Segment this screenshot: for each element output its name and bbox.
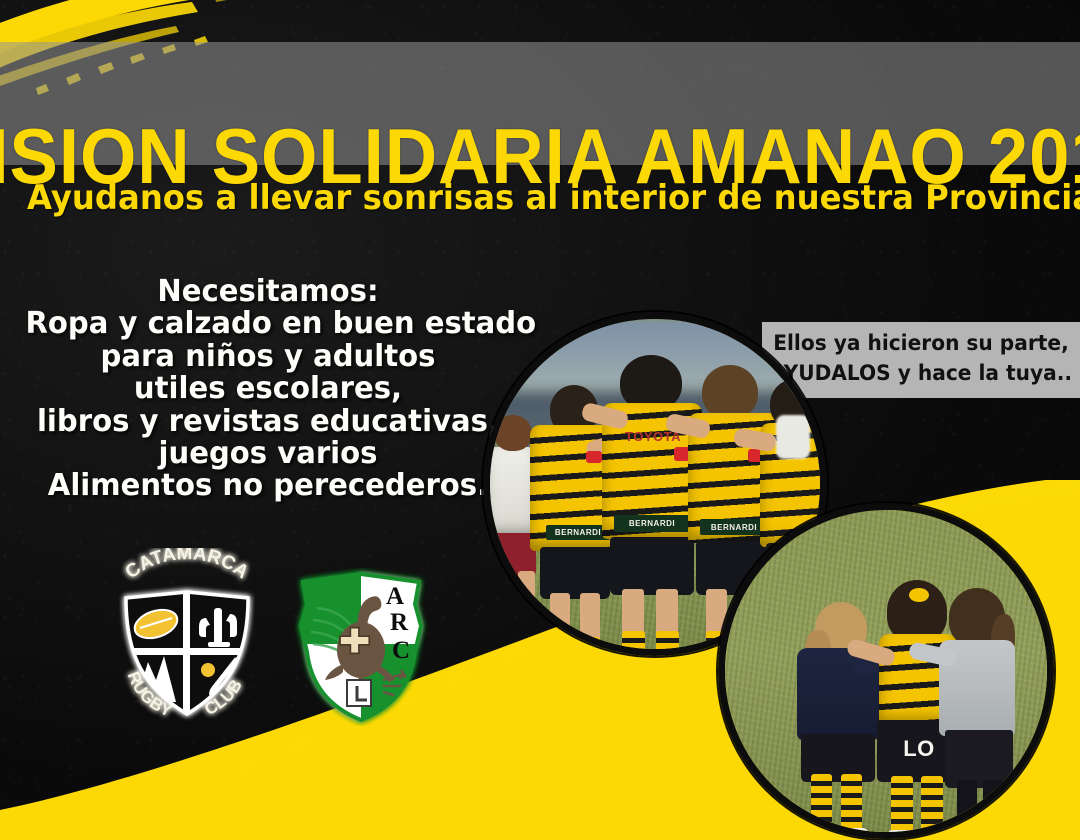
photo-girls-hugging: LO	[718, 503, 1054, 839]
needs-item: utiles escolares,	[26, 373, 511, 405]
needs-list: Necesitamos: Ropa y calzado en buen esta…	[26, 276, 511, 503]
crest-top-text: CATAMARCA	[122, 548, 253, 583]
needs-item: libros y revistas educativas,	[26, 406, 511, 438]
crest-letter-c: C	[392, 637, 410, 664]
crest-letter-a: A	[386, 583, 404, 610]
needs-heading: Necesitamos:	[26, 276, 511, 308]
crest-arc-club: A R C	[291, 568, 431, 726]
crest-letter-r: R	[390, 609, 409, 636]
needs-item: Alimentos no perecederos.	[26, 470, 511, 502]
poster: MISION SOLIDARIA AMANAO 2019 Ayudanos a …	[0, 0, 1080, 840]
crest-catamarca-rugby-club: CATAMARCA	[108, 548, 266, 728]
needs-item: Ropa y calzado en buen estado	[26, 308, 511, 340]
needs-item: para niños y adultos	[26, 341, 511, 373]
subtitle: Ayudanos a llevar sonrisas al interior d…	[27, 178, 1053, 218]
needs-item: juegos varios	[26, 438, 511, 470]
